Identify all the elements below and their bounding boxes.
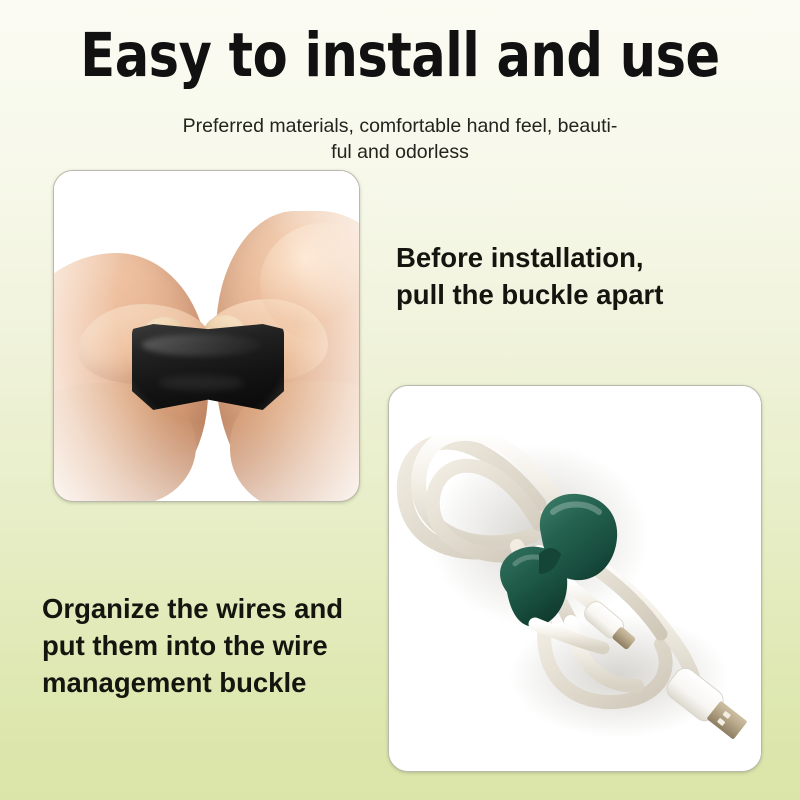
photo-hands-pulling-buckle: [53, 170, 360, 502]
cable-illustration: [389, 386, 761, 771]
black-cable-buckle: [132, 324, 284, 410]
callout-right-line-2: pull the buckle apart: [396, 276, 726, 313]
buckle-highlight-bottom: [158, 376, 244, 390]
subtitle-line-1: Preferred materials, comfortable hand fe…: [183, 115, 618, 137]
photo-cable-with-buckle: [388, 385, 762, 772]
callout-left-line-3: management buckle: [42, 664, 382, 701]
product-infographic-poster: Easy to install and use Preferred materi…: [0, 0, 800, 800]
callout-left-line-1: Organize the wires and: [42, 590, 382, 627]
callout-before-installation: Before installation, pull the buckle apa…: [396, 239, 726, 313]
photo-hands-stage: [54, 171, 359, 501]
subtitle-line-2: ful and odorless: [331, 141, 469, 163]
callout-right-line-1: Before installation,: [396, 239, 726, 276]
page-title: Easy to install and use: [28, 22, 772, 90]
photo-cable-stage: [389, 386, 761, 771]
callout-organize-wires: Organize the wires and put them into the…: [42, 590, 382, 701]
subtitle: Preferred materials, comfortable hand fe…: [148, 113, 652, 165]
callout-left-line-2: put them into the wire: [42, 627, 382, 664]
buckle-highlight-top: [142, 334, 262, 356]
